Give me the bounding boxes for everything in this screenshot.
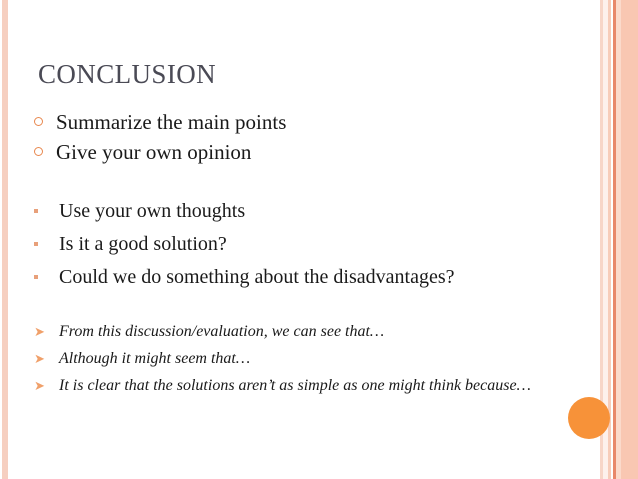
arrowhead-bullet-icon: ➤: [34, 321, 59, 342]
bullet-group-level1: Summarize the main points Give your own …: [34, 108, 564, 166]
list-item-label: It is clear that the solutions aren’t as…: [59, 375, 564, 396]
list-item: Could we do something about the disadvan…: [34, 262, 564, 292]
right-border-stripe-7: [621, 0, 638, 479]
orange-accent-circle: [568, 397, 610, 439]
list-item-label: From this discussion/evaluation, we can …: [59, 321, 564, 342]
list-item-label: Could we do something about the disadvan…: [59, 262, 564, 292]
list-item-label: Give your own opinion: [56, 138, 564, 166]
slide-canvas: CONCLUSION Summarize the main points Giv…: [0, 0, 638, 479]
slide-body: Summarize the main points Give your own …: [34, 108, 564, 402]
arrowhead-bullet-icon: ➤: [34, 375, 59, 396]
bullet-group-level3: ➤ From this discussion/evaluation, we ca…: [34, 321, 564, 396]
list-item: Use your own thoughts: [34, 196, 564, 226]
list-item: Summarize the main points: [34, 108, 564, 136]
list-item: ➤ It is clear that the solutions aren’t …: [34, 375, 564, 396]
left-border-stripe: [2, 0, 8, 479]
arrowhead-bullet-icon: ➤: [34, 348, 59, 369]
bullet-group-level2: Use your own thoughts Is it a good solut…: [34, 196, 564, 292]
list-item-label: Although it might seem that…: [59, 348, 564, 369]
list-item: ➤ From this discussion/evaluation, we ca…: [34, 321, 564, 342]
page-title: CONCLUSION: [38, 58, 216, 90]
list-item-label: Summarize the main points: [56, 108, 564, 136]
list-item-label: Use your own thoughts: [59, 196, 564, 226]
list-item-label: Is it a good solution?: [59, 229, 564, 259]
list-item: Give your own opinion: [34, 138, 564, 166]
group-spacer: [34, 295, 564, 321]
list-item: ➤ Although it might seem that…: [34, 348, 564, 369]
list-item: Is it a good solution?: [34, 229, 564, 259]
group-spacer: [34, 168, 564, 196]
